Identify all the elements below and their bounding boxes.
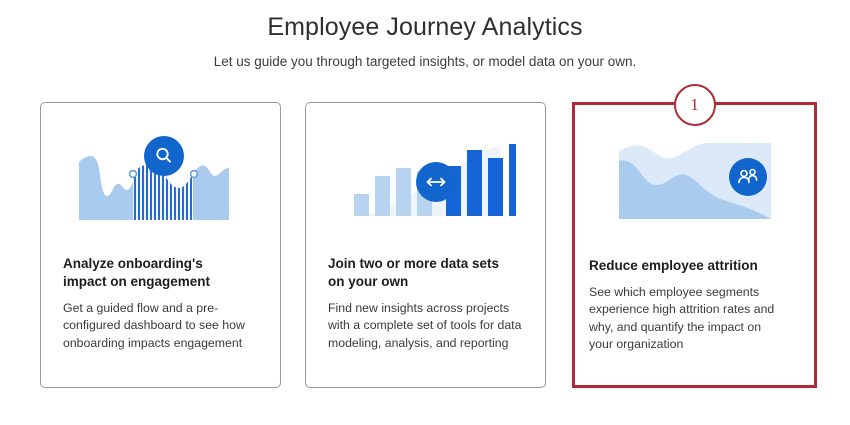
bar-light-2 — [375, 176, 390, 216]
join-badge[interactable] — [416, 162, 456, 202]
search-badge[interactable] — [144, 136, 184, 176]
card-body: Get a guided flow and a pre- configured … — [63, 300, 258, 352]
bar-group-dark — [446, 144, 516, 216]
page-title: Employee Journey Analytics — [0, 11, 850, 44]
annotation-badge-1: 1 — [674, 84, 716, 126]
card-title: Analyze onboarding's impact on engagemen… — [63, 255, 258, 291]
brush-handle-right[interactable] — [190, 171, 197, 178]
brush-handle-left[interactable] — [129, 171, 136, 178]
card-body: Find new insights across projects with a… — [328, 300, 523, 352]
page-subtitle: Let us guide you through targeted insigh… — [0, 53, 850, 71]
illustration-declining-area — [575, 105, 814, 257]
people-badge[interactable] — [729, 158, 767, 196]
stacked-area-chart — [609, 131, 781, 231]
card-analyze-onboarding[interactable]: Analyze onboarding's impact on engagemen… — [40, 102, 281, 388]
bar-dark-4 — [509, 144, 516, 216]
bar-dark-2 — [467, 150, 482, 216]
bar-chart — [336, 124, 516, 234]
card-reduce-attrition[interactable]: 1 Reduce employee attrition See which — [572, 102, 817, 388]
page-header: Employee Journey Analytics Let us guide … — [0, 0, 850, 70]
bar-dark-3 — [488, 158, 503, 216]
card-title: Reduce employee attrition — [589, 257, 796, 275]
illustration-bar-groups-join — [306, 103, 545, 255]
bar-light-3 — [396, 168, 411, 216]
card-text: Reduce employee attrition See which empl… — [575, 257, 814, 354]
card-body: See which employee segments experience h… — [589, 284, 796, 354]
card-text: Analyze onboarding's impact on engagemen… — [41, 255, 280, 352]
card-text: Join two or more data sets on your own F… — [306, 255, 545, 352]
card-join-data-sets[interactable]: Join two or more data sets on your own F… — [305, 102, 546, 388]
bar-light-1 — [354, 194, 369, 216]
card-row: Analyze onboarding's impact on engagemen… — [40, 102, 817, 388]
badge-circle — [729, 158, 767, 196]
card-title: Join two or more data sets on your own — [328, 255, 523, 291]
wave-area-chart — [73, 124, 249, 234]
illustration-wave-area-brush — [41, 103, 280, 255]
badge-circle — [144, 136, 184, 176]
